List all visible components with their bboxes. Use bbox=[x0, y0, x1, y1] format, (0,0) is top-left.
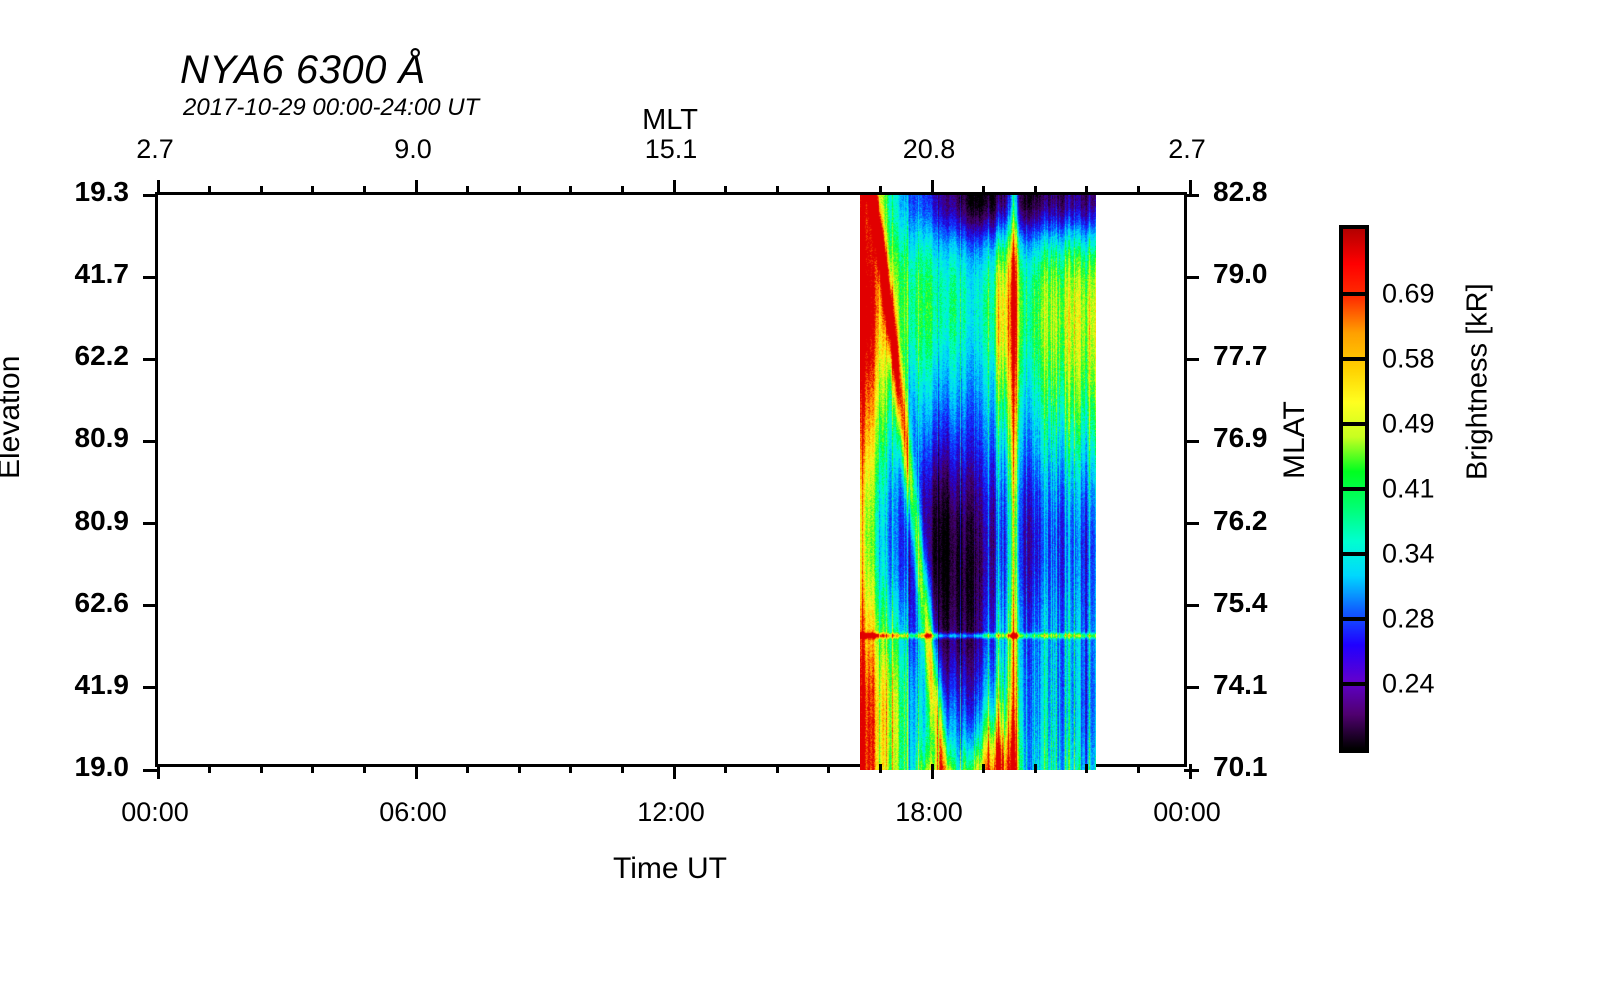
mlt-tick-label: 2.7 bbox=[136, 134, 174, 165]
x-tick-minor-top bbox=[569, 186, 572, 195]
colorbar-separator bbox=[1343, 487, 1365, 491]
y-tick-label-left: 19.3 bbox=[75, 176, 130, 208]
y-tick-label-right: 82.8 bbox=[1213, 176, 1268, 208]
colorbar-tick-label: 0.69 bbox=[1382, 279, 1435, 310]
x-tick-major-top bbox=[415, 180, 418, 195]
page-subtitle: 2017-10-29 00:00-24:00 UT bbox=[183, 94, 479, 122]
y-tick-left bbox=[143, 686, 158, 689]
y-tick-label-right: 74.1 bbox=[1213, 669, 1268, 701]
y-tick-left bbox=[143, 276, 158, 279]
x-tick-minor-top bbox=[621, 186, 624, 195]
right-axis-title: MLAT bbox=[1278, 401, 1312, 479]
x-tick-minor bbox=[569, 764, 572, 773]
y-tick-left bbox=[143, 522, 158, 525]
y-tick-right bbox=[1184, 358, 1199, 361]
y-tick-right bbox=[1184, 604, 1199, 607]
y-tick-left bbox=[143, 358, 158, 361]
x-tick-minor-top bbox=[363, 186, 366, 195]
colorbar bbox=[1339, 225, 1369, 753]
x-tick-minor bbox=[260, 764, 263, 773]
y-tick-label-right: 77.7 bbox=[1213, 340, 1268, 372]
x-tick-minor bbox=[1034, 764, 1037, 773]
left-axis-title: Elevation bbox=[0, 356, 27, 479]
x-tick-minor-top bbox=[879, 186, 882, 195]
x-tick-minor-top bbox=[466, 186, 469, 195]
y-tick-label-right: 76.9 bbox=[1213, 422, 1268, 454]
y-tick-label-right: 79.0 bbox=[1213, 258, 1268, 290]
y-tick-left bbox=[143, 604, 158, 607]
colorbar-separator bbox=[1343, 422, 1365, 426]
mlt-tick-label: 2.7 bbox=[1168, 134, 1206, 165]
y-tick-right bbox=[1184, 276, 1199, 279]
colorbar-tick-label: 0.49 bbox=[1382, 409, 1435, 440]
x-tick-minor-top bbox=[827, 186, 830, 195]
plot-frame bbox=[155, 192, 1187, 767]
x-tick-major bbox=[157, 764, 160, 779]
x-tick-label: 18:00 bbox=[895, 797, 963, 828]
x-tick-minor-top bbox=[776, 186, 779, 195]
colorbar-separator bbox=[1343, 357, 1365, 361]
x-tick-minor-top bbox=[982, 186, 985, 195]
x-tick-minor-top bbox=[1085, 186, 1088, 195]
colorbar-tick-label: 0.41 bbox=[1382, 474, 1435, 505]
y-tick-label-left: 62.6 bbox=[75, 587, 130, 619]
bottom-axis-title: Time UT bbox=[613, 852, 727, 886]
colorbar-separator bbox=[1343, 552, 1365, 556]
y-tick-label-right: 70.1 bbox=[1213, 751, 1268, 783]
y-tick-right bbox=[1184, 522, 1199, 525]
colorbar-title: Brightness [kR] bbox=[1462, 283, 1495, 480]
y-tick-right bbox=[1184, 440, 1199, 443]
x-tick-major bbox=[1189, 764, 1192, 779]
x-tick-minor bbox=[1085, 764, 1088, 773]
mlt-tick-label: 9.0 bbox=[394, 134, 432, 165]
x-tick-minor-top bbox=[1034, 186, 1037, 195]
y-tick-right bbox=[1184, 194, 1199, 197]
y-tick-label-right: 75.4 bbox=[1213, 587, 1268, 619]
mlt-tick-label: 15.1 bbox=[645, 134, 698, 165]
y-tick-right bbox=[1184, 769, 1199, 772]
y-tick-right bbox=[1184, 686, 1199, 689]
x-tick-minor bbox=[776, 764, 779, 773]
y-tick-left bbox=[143, 769, 158, 772]
x-tick-major bbox=[931, 764, 934, 779]
x-tick-label: 00:00 bbox=[1153, 797, 1221, 828]
colorbar-tick-label: 0.34 bbox=[1382, 539, 1435, 570]
x-tick-major-top bbox=[673, 180, 676, 195]
x-tick-label: 12:00 bbox=[637, 797, 705, 828]
colorbar-separator bbox=[1343, 682, 1365, 686]
page-title: NYA6 6300 Å bbox=[180, 48, 426, 93]
x-tick-major-top bbox=[931, 180, 934, 195]
x-tick-minor bbox=[982, 764, 985, 773]
y-tick-label-left: 41.9 bbox=[75, 669, 130, 701]
x-tick-minor bbox=[724, 764, 727, 773]
mlt-tick-label: 20.8 bbox=[903, 134, 956, 165]
x-tick-label: 06:00 bbox=[379, 797, 447, 828]
top-axis-title: MLT bbox=[642, 104, 698, 137]
x-tick-minor-top bbox=[1137, 186, 1140, 195]
colorbar-separator bbox=[1343, 617, 1365, 621]
x-tick-minor bbox=[879, 764, 882, 773]
x-tick-minor-top bbox=[311, 186, 314, 195]
x-tick-minor-top bbox=[208, 186, 211, 195]
y-tick-label-left: 41.7 bbox=[75, 258, 130, 290]
x-tick-minor bbox=[518, 764, 521, 773]
x-tick-minor bbox=[1137, 764, 1140, 773]
y-tick-label-left: 62.2 bbox=[75, 340, 130, 372]
x-tick-minor-top bbox=[260, 186, 263, 195]
x-tick-minor bbox=[311, 764, 314, 773]
y-tick-label-right: 76.2 bbox=[1213, 505, 1268, 537]
y-tick-left bbox=[143, 194, 158, 197]
x-tick-minor-top bbox=[724, 186, 727, 195]
x-tick-label: 00:00 bbox=[121, 797, 189, 828]
colorbar-tick-label: 0.24 bbox=[1382, 669, 1435, 700]
y-tick-label-left: 80.9 bbox=[75, 505, 130, 537]
x-tick-minor bbox=[827, 764, 830, 773]
colorbar-tick-label: 0.28 bbox=[1382, 604, 1435, 635]
x-tick-minor bbox=[363, 764, 366, 773]
x-tick-major bbox=[673, 764, 676, 779]
keogram-figure: NYA6 6300 Å 2017-10-29 00:00-24:00 UT ML… bbox=[0, 0, 1600, 1000]
x-tick-major bbox=[415, 764, 418, 779]
keogram-data-region bbox=[860, 195, 1096, 770]
y-tick-left bbox=[143, 440, 158, 443]
colorbar-separator bbox=[1343, 292, 1365, 296]
y-tick-label-left: 80.9 bbox=[75, 422, 130, 454]
y-tick-label-left: 19.0 bbox=[75, 751, 130, 783]
x-tick-minor bbox=[208, 764, 211, 773]
keogram-canvas bbox=[860, 195, 1096, 770]
x-tick-minor-top bbox=[518, 186, 521, 195]
x-tick-minor bbox=[621, 764, 624, 773]
colorbar-tick-label: 0.58 bbox=[1382, 344, 1435, 375]
x-tick-minor bbox=[466, 764, 469, 773]
